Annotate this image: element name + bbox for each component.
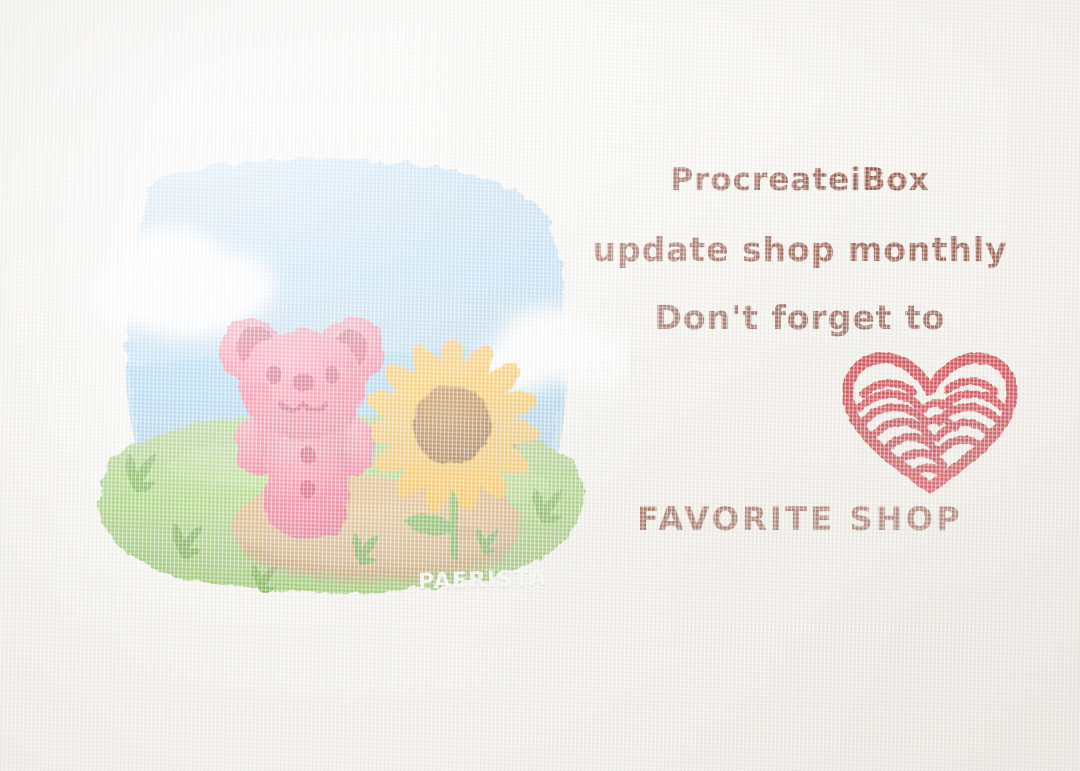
heart-icon bbox=[835, 350, 1025, 500]
headline-favorite-shop: FAVORITE SHOP bbox=[560, 500, 1040, 538]
headline-shop-name: ProcreateiBox bbox=[560, 162, 1040, 198]
bear-illustration bbox=[60, 155, 630, 625]
headline-update-frequency: update shop monthly bbox=[560, 230, 1040, 269]
promo-copy: ProcreateiBox update shop monthly Don't … bbox=[560, 150, 1040, 580]
headline-call-to-action: Don't forget to bbox=[560, 298, 1040, 337]
poster-canvas: PAERISTA ProcreateiBox update shop month… bbox=[0, 0, 1080, 771]
